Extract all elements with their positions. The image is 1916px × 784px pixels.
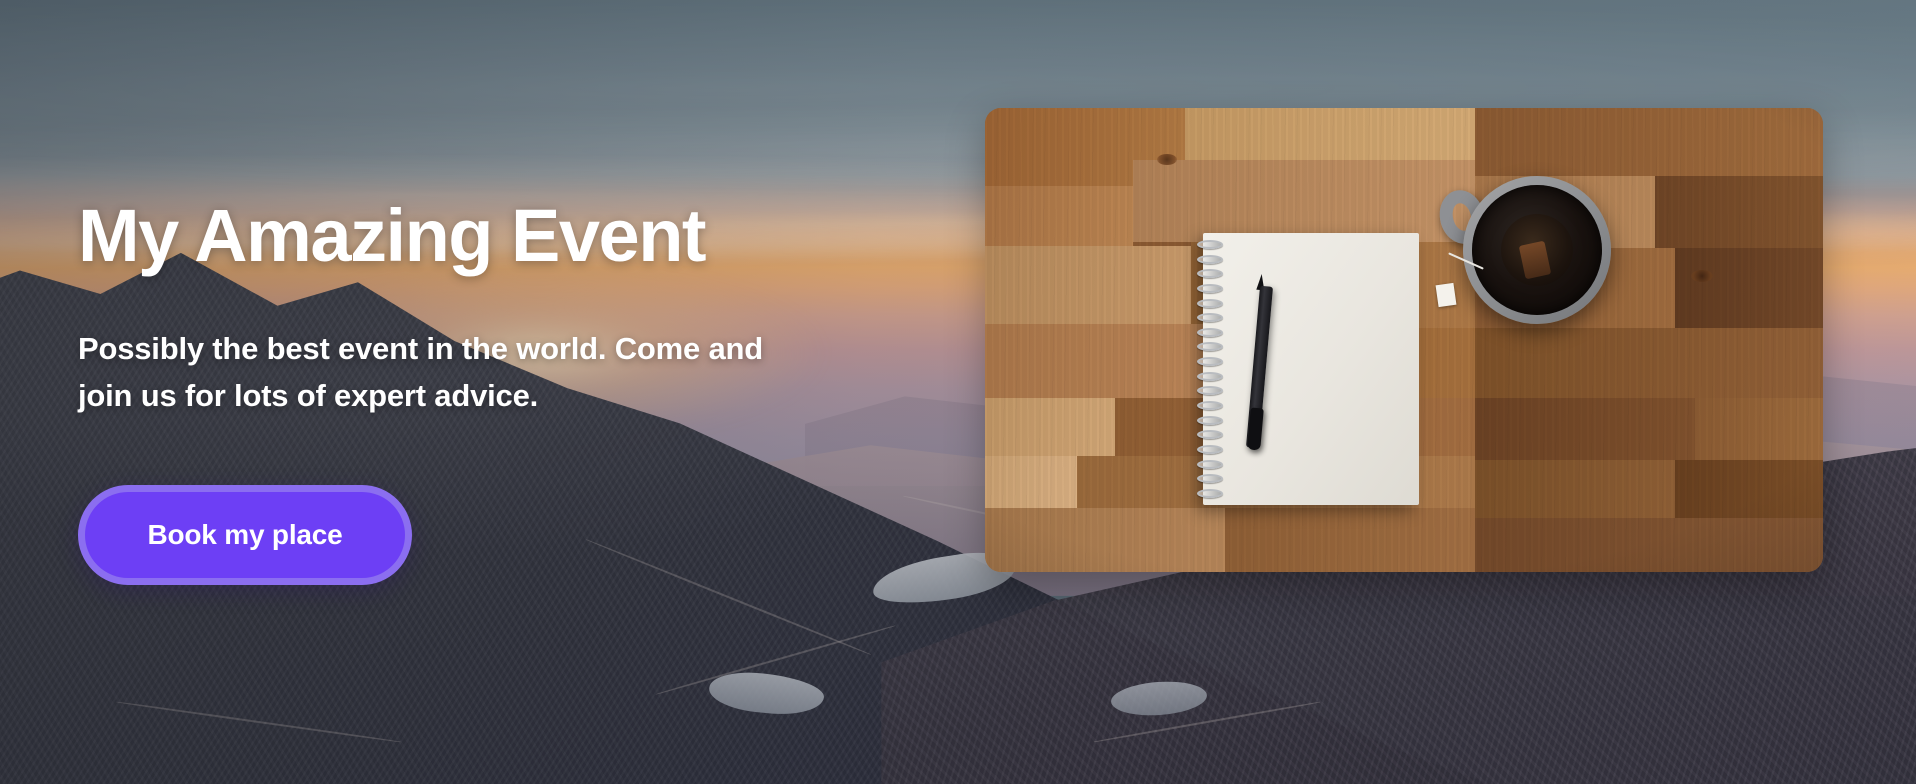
spiral-ring — [1197, 460, 1223, 469]
spiral-ring — [1197, 401, 1223, 410]
spiral-ring — [1197, 489, 1223, 498]
spiral-ring — [1197, 430, 1223, 439]
hero-subheadline: Possibly the best event in the world. Co… — [78, 325, 778, 419]
spiral-ring — [1197, 386, 1223, 395]
tea-liquid — [1501, 214, 1574, 287]
spiral-ring — [1197, 328, 1223, 337]
spiral-ring — [1197, 255, 1223, 264]
tea-bag-tag — [1436, 283, 1457, 307]
event-hero-banner: My Amazing Event Possibly the best event… — [0, 0, 1916, 784]
page-title: My Amazing Event — [78, 199, 838, 273]
spiral-ring — [1197, 342, 1223, 351]
notebook-spiral-binding — [1197, 234, 1223, 504]
spiral-ring — [1197, 445, 1223, 454]
wood-knot — [1691, 270, 1713, 282]
tea-bag — [1519, 240, 1552, 279]
book-my-place-button[interactable]: Book my place — [78, 485, 412, 585]
spiral-ring — [1197, 313, 1223, 322]
spiral-ring — [1197, 284, 1223, 293]
hero-content: My Amazing Event Possibly the best event… — [78, 0, 838, 784]
ceramic-mug — [1463, 176, 1611, 324]
wood-knot — [1157, 154, 1177, 165]
spiral-notebook — [1203, 233, 1419, 505]
spiral-ring — [1197, 269, 1223, 278]
spiral-ring — [1197, 474, 1223, 483]
mug-interior — [1472, 185, 1602, 315]
spiral-ring — [1197, 357, 1223, 366]
spiral-ring — [1197, 416, 1223, 425]
spiral-ring — [1197, 240, 1223, 249]
spiral-ring — [1197, 299, 1223, 308]
desk-flatlay-card — [985, 108, 1823, 572]
spiral-ring — [1197, 372, 1223, 381]
